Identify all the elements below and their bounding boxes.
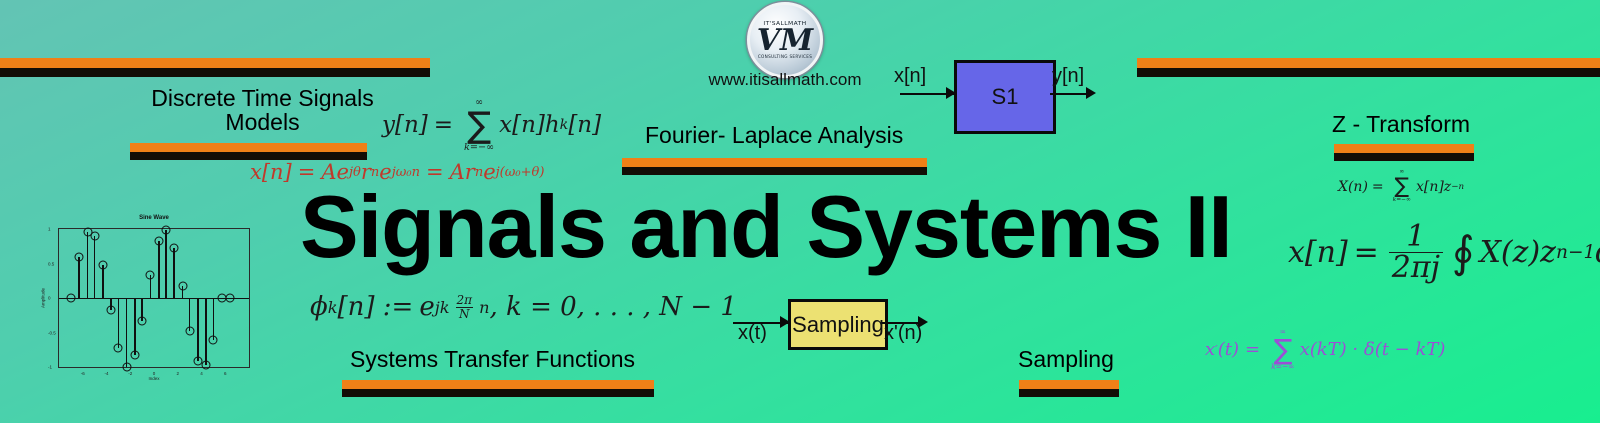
ce-lhs: x[n]: [250, 160, 292, 184]
s1-output-label: y[n]: [1052, 65, 1084, 88]
stem-marker: [209, 336, 218, 345]
stem-line: [94, 236, 96, 298]
stem-plot-y-tick: -1: [48, 365, 52, 370]
formula-z-transform: X(n) = ∞ ∑ k=−∞ x[n]z−n: [1338, 170, 1464, 203]
dft-exp-pre: jk: [435, 298, 450, 317]
stem-plot-x-tick: -2: [128, 371, 132, 376]
samp-rhs: x(kT) · δ(t − kT): [1300, 339, 1446, 360]
formula-inverse-z-transform: x[n] = 1 2πj ∮ X(z)zn−1dz: [1288, 222, 1600, 283]
stem-marker: [114, 343, 123, 352]
stem-line: [205, 298, 207, 365]
dft-phi-sub: k: [328, 298, 338, 317]
logo-monogram: VM: [757, 27, 813, 54]
s1-input-label: x[n]: [894, 65, 926, 88]
conv-lhs: y[n]: [382, 112, 428, 138]
samp-lhs-tail: (t): [1218, 339, 1239, 360]
page-title: Signals and Systems II: [300, 183, 1232, 271]
conv-equals: =: [434, 112, 453, 138]
stem-plot-y-tick: 0: [48, 296, 51, 301]
stem-plot-x-tick: -4: [104, 371, 108, 376]
heading-discrete-time-signals-models: Discrete Time Signals Models: [130, 86, 395, 134]
underline-systems-transfer-functions: [342, 380, 654, 397]
decor-bar-top-left: [0, 58, 430, 77]
sine-wave-stem-plot: Sine Wave Amplitude Index 10.50-0.5-1 -6…: [58, 228, 250, 368]
stem-marker: [122, 363, 131, 372]
stem-marker: [226, 294, 235, 303]
formula-ideal-sampling: x′(t) = ∞ ∑ k=−∞ x(kT) · δ(t − kT): [1205, 328, 1445, 371]
stem-plot-ylabel: Amplitude: [41, 288, 46, 308]
heading-sampling: Sampling: [1018, 347, 1114, 371]
stem-line: [118, 298, 120, 348]
stem-line: [78, 257, 80, 298]
izt-equals: =: [1354, 235, 1379, 270]
dft-e: e: [419, 292, 434, 322]
zt-summation: ∞ ∑ k=−∞: [1393, 170, 1411, 203]
samp-equals: =: [1245, 339, 1260, 360]
conv-sum-lower: k=−∞: [464, 143, 494, 153]
website-url: www.itisallmath.com: [700, 70, 870, 90]
izt-rhs-exponent: n−1: [1556, 242, 1595, 263]
stem-line: [197, 298, 199, 361]
sampling-input-label: x(t): [738, 322, 767, 345]
heading-z-transform: Z - Transform: [1332, 112, 1470, 136]
conv-rhs: x[n]h: [499, 112, 560, 138]
stem-marker: [146, 270, 155, 279]
stem-line: [165, 230, 167, 298]
stem-plot-x-tick: -6: [81, 371, 85, 376]
stem-marker: [66, 294, 75, 303]
underline-sampling: [1019, 380, 1119, 397]
stem-plot-x-tick: 2: [176, 371, 179, 376]
stem-marker: [75, 252, 84, 261]
izt-denominator: 2πj: [1389, 252, 1443, 283]
sampling-block[interactable]: Sampling: [788, 299, 888, 350]
s1-output-arrowhead: [1086, 87, 1096, 99]
samp-summation: ∞ ∑ k=−∞: [1271, 328, 1295, 371]
zt-lhs: X(n): [1338, 179, 1368, 195]
stem-plot-x-tick: 4: [200, 371, 203, 376]
stem-line: [87, 232, 89, 298]
stem-plot-y-tick: 1: [48, 227, 51, 232]
formula-convolution-sum: y[n] = ∞ ∑ k=−∞ x[n]hk[n]: [382, 98, 601, 153]
logo-subtitle: CONSULTING SERVICES: [758, 54, 812, 60]
dft-range: , k = 0, . . . , N − 1: [490, 292, 737, 322]
stem-marker: [202, 360, 211, 369]
stem-plot-xlabel: Index: [59, 376, 249, 381]
stem-line: [173, 248, 175, 298]
dft-phi: ϕ: [310, 292, 328, 322]
stem-line: [213, 298, 215, 340]
stem-marker: [170, 244, 179, 253]
zt-rhs-exponent: −n: [1451, 182, 1464, 192]
s1-block-label: S1: [992, 84, 1019, 110]
decor-bar-top-right: [1137, 58, 1600, 77]
dft-exp-post: n: [479, 298, 489, 317]
dft-exp-numerator: 2π: [454, 294, 476, 306]
sampling-output-label: x'(n): [884, 322, 922, 345]
stem-marker: [138, 316, 147, 325]
underline-fourier-laplace-analysis: [622, 158, 927, 175]
dft-assign: [n] :=: [338, 292, 414, 322]
conv-summation: ∞ ∑ k=−∞: [464, 98, 494, 153]
samp-lhs: x: [1205, 339, 1215, 360]
conv-rhs-sub: k: [560, 117, 569, 133]
itisallmath-logo: IT'SALLMATH VM CONSULTING SERVICES: [747, 2, 823, 78]
conv-rhs-tail: [n]: [568, 112, 601, 138]
stem-line: [102, 265, 104, 298]
stem-marker: [154, 237, 163, 246]
zt-rhs: x[n]z: [1416, 179, 1451, 195]
logo-top-text: IT'SALLMATH: [763, 21, 806, 27]
stem-marker: [161, 225, 170, 234]
stem-marker: [185, 327, 194, 336]
stem-line: [158, 241, 160, 298]
izt-numerator: 1: [1403, 222, 1428, 252]
izt-fraction: 1 2πj: [1389, 222, 1443, 283]
stem-marker: [107, 306, 116, 315]
stem-plot-y-tick: 0.5: [48, 261, 54, 266]
izt-rhs-tail: dz: [1595, 235, 1600, 270]
stem-plot-x-tick: 0: [153, 371, 156, 376]
s1-block[interactable]: S1: [954, 60, 1056, 134]
stem-line: [126, 298, 128, 367]
stem-marker: [131, 350, 140, 359]
zt-sum-lower: k=−∞: [1393, 198, 1411, 204]
heading-systems-transfer-functions: Systems Transfer Functions: [350, 347, 635, 371]
dft-exp-denominator: N: [456, 307, 473, 320]
zt-equals: =: [1372, 179, 1384, 195]
underline-z-transform: [1334, 144, 1474, 161]
stem-plot-y-tick: -0.5: [48, 330, 56, 335]
stem-plot-title: Sine Wave: [59, 215, 249, 221]
formula-dft-basis: ϕk[n] := e jk 2π N n , k = 0, . . . , N …: [310, 292, 737, 322]
stem-line: [134, 298, 136, 355]
stem-marker: [90, 231, 99, 240]
stem-marker: [178, 282, 187, 291]
stem-marker: [98, 260, 107, 269]
heading-fourier-laplace-analysis: Fourier- Laplace Analysis: [645, 123, 903, 147]
sampling-block-label: Sampling: [792, 312, 884, 338]
izt-contour-integral: ∮: [1452, 228, 1475, 278]
stem-plot-x-tick: 6: [224, 371, 227, 376]
underline-discrete-time-signals-models: [130, 143, 367, 160]
izt-rhs: X(z)z: [1480, 235, 1556, 270]
izt-lhs: x[n]: [1288, 235, 1348, 270]
samp-sum-lower: k=−∞: [1271, 363, 1295, 371]
